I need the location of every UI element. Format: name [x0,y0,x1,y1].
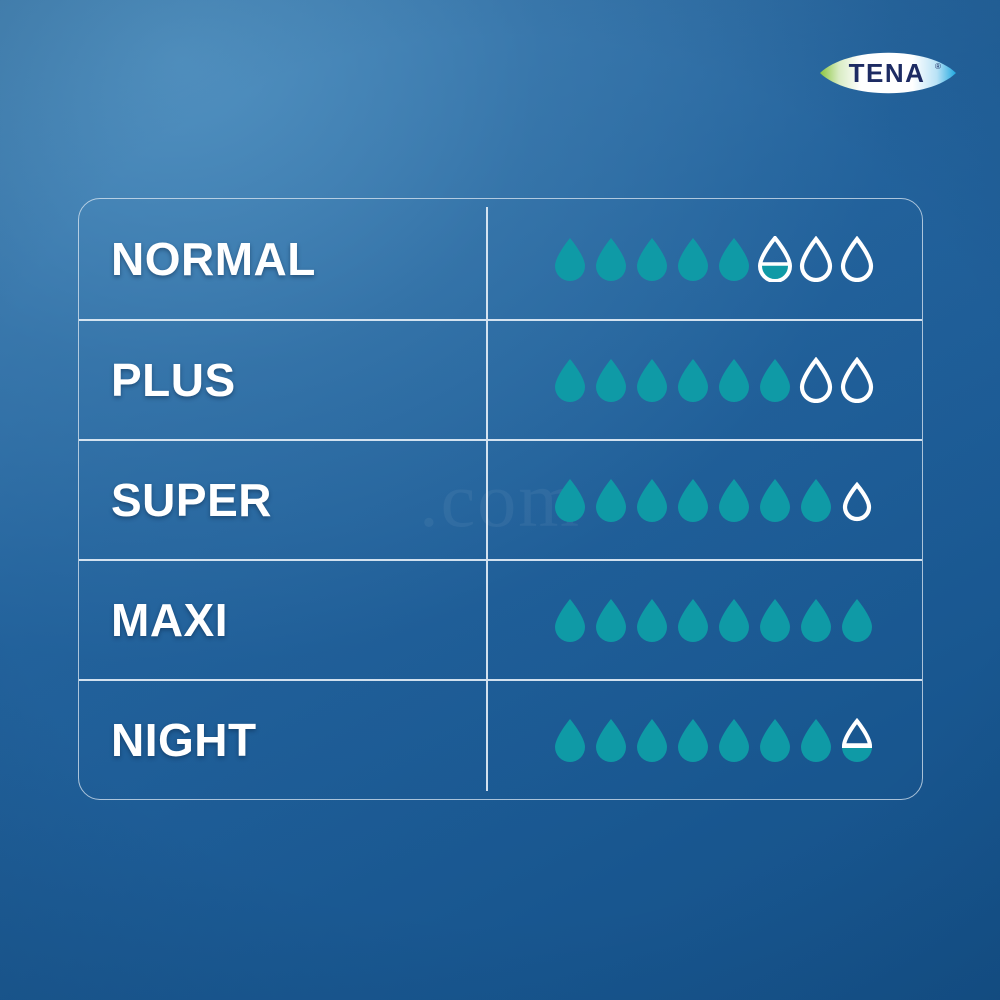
drop-empty-icon [838,357,876,403]
drop-full-icon [592,477,630,523]
drop-half-icon [756,236,794,282]
table-row[interactable]: NIGHT [79,679,922,799]
row-drops-cell [486,597,922,643]
drop-full-icon [797,597,835,643]
table-row[interactable]: SUPER [79,439,922,559]
column-divider [486,561,488,679]
drop-full-icon [633,357,671,403]
drop-empty-icon [838,477,876,523]
drop-full-icon [633,477,671,523]
row-label: NORMAL [111,236,486,282]
drop-empty-icon [838,236,876,282]
svg-text:TENA: TENA [849,58,926,88]
drop-full-icon [715,477,753,523]
drop-full-icon [592,357,630,403]
drop-full-icon [551,717,589,763]
drop-full-icon [592,717,630,763]
drop-full-icon [592,597,630,643]
drop-full-icon [756,597,794,643]
drop-full-icon [551,236,589,282]
drop-full-icon [633,597,671,643]
drop-full-icon [633,236,671,282]
drop-empty-icon [797,236,835,282]
tena-logo: TENA ® [818,44,958,102]
absorbency-chart-canvas: .com TENA ® NORMAL [0,0,1000,1000]
drop-full-icon [756,717,794,763]
column-divider [486,681,488,791]
row-label-cell: PLUS [79,357,486,403]
column-divider [486,441,488,559]
drop-full-icon [551,597,589,643]
column-divider [486,321,488,439]
svg-text:®: ® [935,62,941,71]
drop-full-icon [551,477,589,523]
drop-full-icon [756,477,794,523]
drop-full-icon [797,477,835,523]
drop-half-icon [838,717,876,763]
row-label: SUPER [111,477,486,523]
table-row[interactable]: NORMAL [79,199,922,319]
drop-full-icon [715,357,753,403]
drop-full-icon [715,236,753,282]
table-row[interactable]: PLUS [79,319,922,439]
row-label-cell: NIGHT [79,717,486,763]
drop-full-icon [674,357,712,403]
table-row[interactable]: MAXI [79,559,922,679]
row-drops-cell [486,357,922,403]
drop-full-icon [551,357,589,403]
drop-full-icon [838,597,876,643]
absorbency-table: NORMAL PLUS [78,198,923,800]
drop-full-icon [674,717,712,763]
drop-full-icon [674,477,712,523]
drop-full-icon [756,357,794,403]
row-drops-cell [486,477,922,523]
row-label: MAXI [111,597,486,643]
row-label: NIGHT [111,717,486,763]
row-label-cell: MAXI [79,597,486,643]
drop-full-icon [797,717,835,763]
drop-full-icon [674,597,712,643]
row-label-cell: NORMAL [79,236,486,282]
row-drops-cell [486,717,922,763]
row-drops-cell [486,236,922,282]
drop-empty-icon [797,357,835,403]
row-label: PLUS [111,357,486,403]
drop-full-icon [715,717,753,763]
drop-full-icon [715,597,753,643]
column-divider [486,207,488,319]
drop-full-icon [592,236,630,282]
drop-full-icon [674,236,712,282]
row-label-cell: SUPER [79,477,486,523]
drop-full-icon [633,717,671,763]
